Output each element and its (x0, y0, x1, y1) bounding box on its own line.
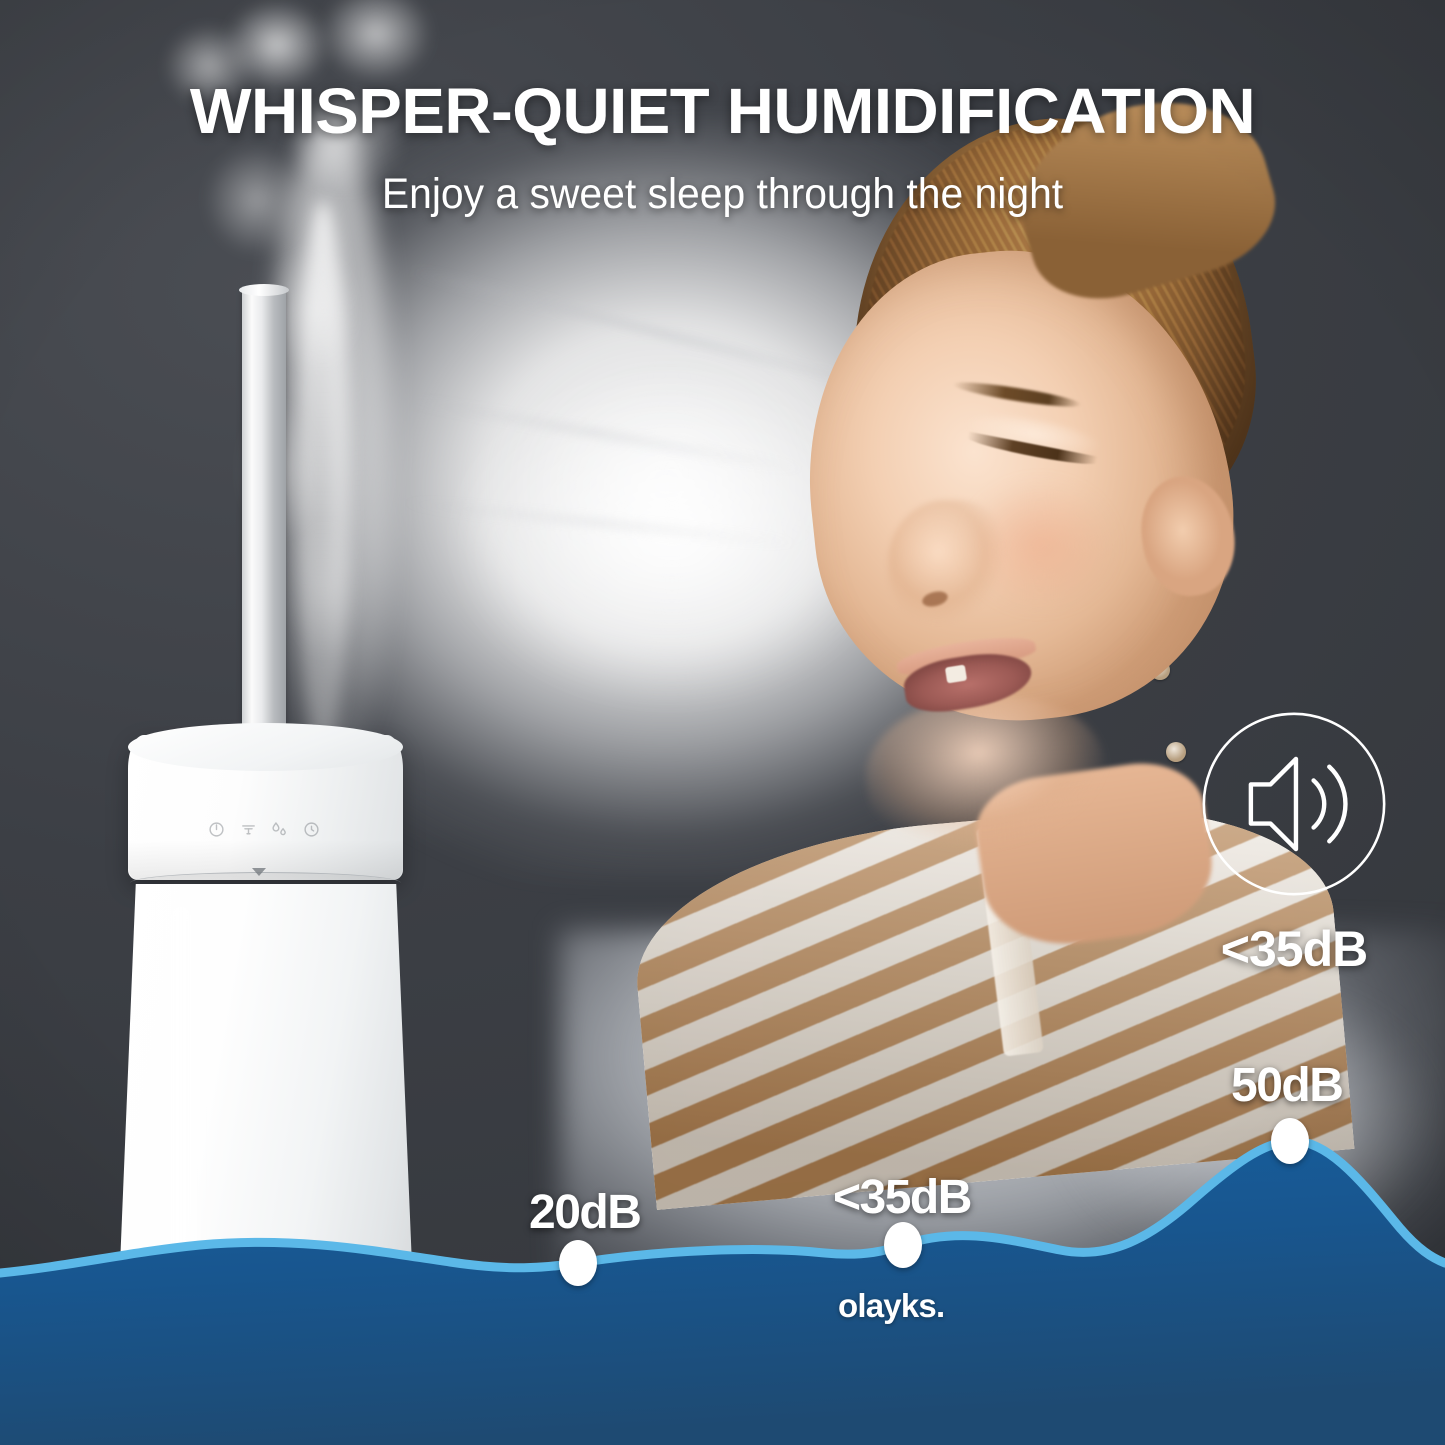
sound-badge (1196, 706, 1392, 902)
humidifier-cap-surface (128, 723, 403, 771)
mist-nozzle-rim (239, 284, 289, 296)
speaker-sound-icon (1196, 706, 1392, 902)
unlock-arrow-icon (252, 868, 266, 876)
humidity-icon[interactable] (271, 821, 288, 838)
product-marketing-image: 20dB <35dB 50dB olayks. <35dB WHISPER-QU… (0, 0, 1445, 1445)
chart-point-50db (1271, 1118, 1309, 1164)
chart-label-20db: 20dB (529, 1185, 640, 1240)
chart-point-20db (559, 1240, 597, 1286)
power-icon[interactable] (208, 821, 225, 838)
noise-wave-svg (0, 1040, 1445, 1445)
control-panel[interactable] (208, 818, 320, 840)
timer-icon[interactable] (303, 821, 320, 838)
wave-fill (0, 1141, 1445, 1445)
mist-nozzle-tube (242, 288, 286, 758)
mist-icon[interactable] (240, 821, 257, 838)
chart-label-50db: 50dB (1231, 1058, 1342, 1113)
noise-level-chart (0, 1040, 1445, 1445)
brand-logo: olayks. (838, 1287, 944, 1325)
page-subtitle: Enjoy a sweet sleep through the night (36, 170, 1409, 219)
sound-badge-label: <35dB (1163, 920, 1425, 978)
page-title: WHISPER-QUIET HUMIDIFICATION (0, 74, 1445, 148)
chart-label-35db: <35dB (833, 1170, 971, 1225)
chart-point-35db (884, 1222, 922, 1268)
